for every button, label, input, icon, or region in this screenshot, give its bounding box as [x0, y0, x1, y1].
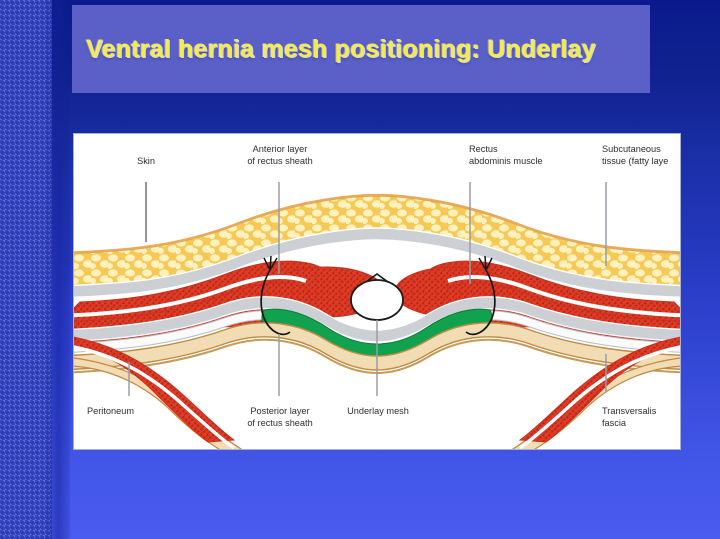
label-posterior-rectus-sheath: Posterior layer of rectus sheath — [224, 406, 336, 429]
page-title: Ventral hernia mesh positioning: Underla… — [86, 35, 596, 64]
label-anterior-rectus-sheath: Anterior layer of rectus sheath — [224, 144, 336, 167]
label-peritoneum: Peritoneum — [87, 406, 187, 418]
anatomy-diagram — [74, 134, 680, 449]
slide-canvas: Ventral hernia mesh positioning: Underla… — [0, 0, 720, 539]
left-texture-fade — [44, 0, 70, 539]
slide-title-box: Ventral hernia mesh positioning: Underla… — [72, 5, 650, 93]
label-transversalis-fascia: Transversalis fascia — [602, 406, 681, 429]
label-subcutaneous-tissue: Subcutaneous tissue (fatty laye — [602, 144, 681, 167]
anatomy-figure-panel: Skin Anterior layer of rectus sheath Rec… — [73, 133, 681, 450]
subcutaneous-fat-layer — [74, 196, 680, 286]
label-rectus-abdominis-muscle: Rectus abdominis muscle — [469, 144, 599, 167]
label-underlay-mesh: Underlay mesh — [326, 406, 430, 418]
hernia-defect-sac — [351, 280, 403, 320]
label-skin: Skin — [106, 156, 186, 168]
